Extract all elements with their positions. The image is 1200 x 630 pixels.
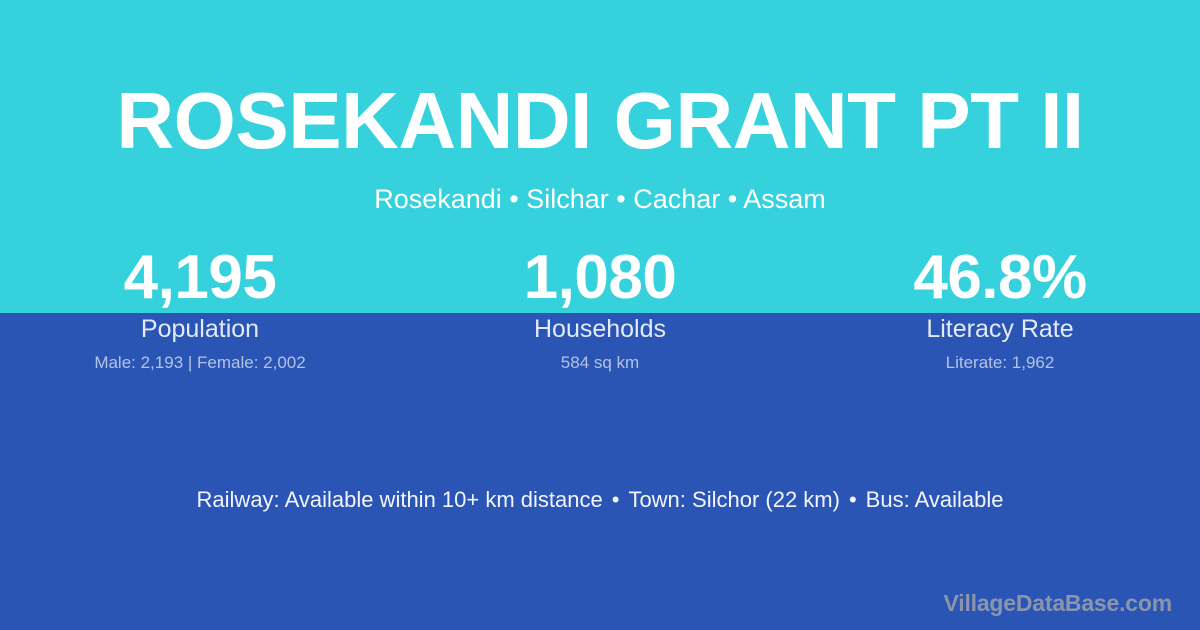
amenities-line: Railway: Available within 10+ km distanc…	[0, 487, 1200, 513]
stat-value: 1,080	[400, 246, 800, 309]
stat-subtext: 584 sq km	[400, 353, 800, 373]
stats-row: 4,195 Population Male: 2,193 | Female: 2…	[0, 246, 1200, 374]
stat-households: 1,080 Households 584 sq km	[400, 246, 800, 374]
stat-label: Households	[400, 314, 800, 344]
amenity-town: Town: Silchor (22 km)	[628, 487, 840, 512]
stat-label: Population	[0, 314, 400, 344]
breadcrumb: Rosekandi • Silchar • Cachar • Assam	[0, 183, 1200, 215]
stat-label: Literacy Rate	[800, 314, 1200, 344]
village-info-card: ROSEKANDI GRANT PT II Rosekandi • Silcha…	[0, 0, 1200, 630]
stat-population: 4,195 Population Male: 2,193 | Female: 2…	[0, 246, 400, 374]
amenity-separator: •	[840, 487, 866, 513]
stat-literacy-rate: 46.8% Literacy Rate Literate: 1,962	[800, 246, 1200, 374]
amenity-bus: Bus: Available	[866, 487, 1004, 512]
stat-subtext: Literate: 1,962	[800, 353, 1200, 373]
stat-value: 4,195	[0, 246, 400, 309]
amenity-separator: •	[603, 487, 629, 513]
page-title: ROSEKANDI GRANT PT II	[0, 81, 1200, 161]
site-watermark: VillageDataBase.com	[944, 590, 1172, 618]
stat-subtext: Male: 2,193 | Female: 2,002	[0, 353, 400, 373]
amenity-railway: Railway: Available within 10+ km distanc…	[197, 487, 603, 512]
stat-value: 46.8%	[800, 246, 1200, 309]
